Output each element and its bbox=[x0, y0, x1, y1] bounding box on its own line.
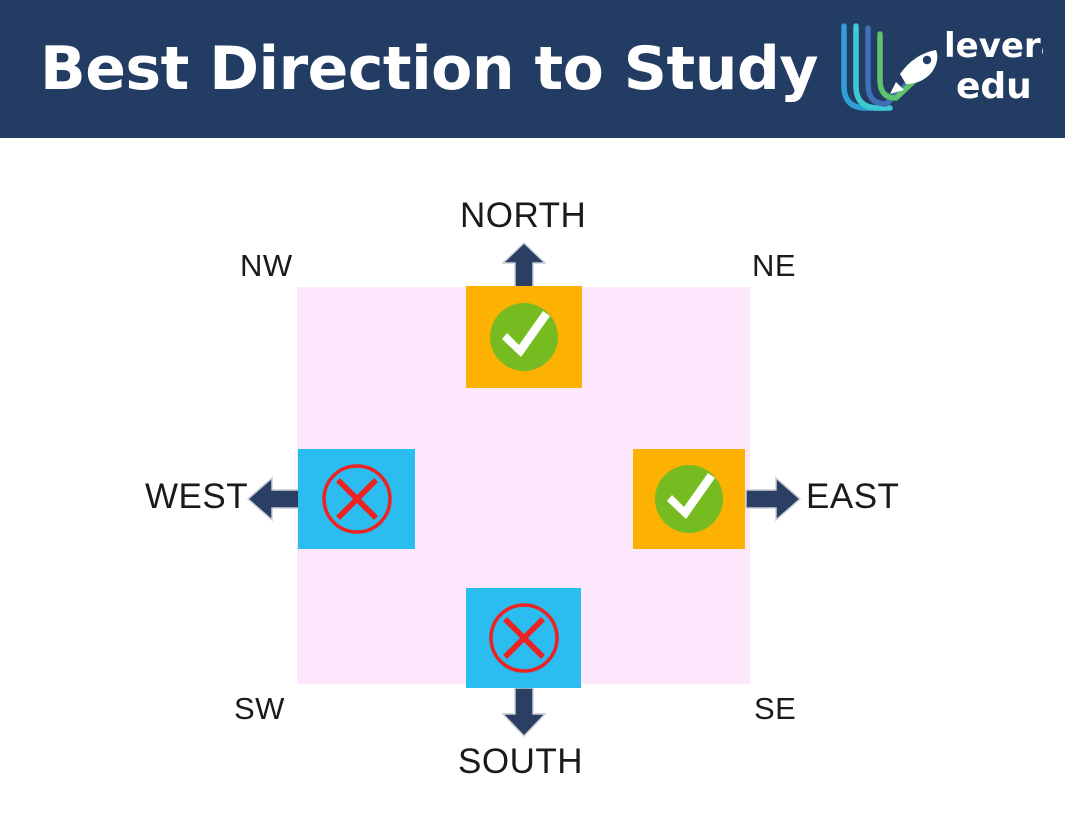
header-content: Best Direction to Study leverage bbox=[0, 0, 1065, 138]
corner-label-ne: NE bbox=[752, 248, 796, 284]
arrow-south-icon bbox=[500, 686, 548, 738]
direction-label-north: NORTH bbox=[460, 196, 586, 236]
direction-tile-south[interactable] bbox=[466, 588, 581, 688]
direction-tile-north[interactable] bbox=[466, 286, 582, 388]
red-cross-icon bbox=[482, 596, 566, 680]
corner-label-se: SE bbox=[754, 691, 796, 727]
arrow-west-icon bbox=[246, 475, 302, 523]
direction-tile-east[interactable] bbox=[633, 449, 745, 549]
red-cross-icon bbox=[315, 457, 399, 541]
page-title: Best Direction to Study bbox=[40, 39, 818, 99]
arrow-north-icon bbox=[500, 241, 548, 289]
rocket-icon bbox=[890, 50, 937, 94]
logo-text-line1: leverage bbox=[944, 26, 1043, 66]
corner-label-nw: NW bbox=[240, 248, 293, 284]
page-header: Best Direction to Study leverage bbox=[0, 0, 1065, 138]
direction-label-south: SOUTH bbox=[458, 742, 583, 782]
direction-label-west: WEST bbox=[145, 477, 248, 517]
corner-label-sw: SW bbox=[234, 691, 285, 727]
green-check-icon bbox=[647, 457, 731, 541]
direction-tile-west[interactable] bbox=[298, 449, 415, 549]
arrow-east-icon bbox=[744, 475, 802, 523]
direction-diagram: NW NE SW SE NORTH EAST WEST SOUTH bbox=[0, 138, 1065, 838]
green-check-icon bbox=[482, 295, 566, 379]
direction-label-east: EAST bbox=[806, 477, 899, 517]
leverage-edu-logo[interactable]: leverage edu bbox=[828, 12, 1043, 124]
logo-text-line2: edu bbox=[956, 66, 1032, 107]
